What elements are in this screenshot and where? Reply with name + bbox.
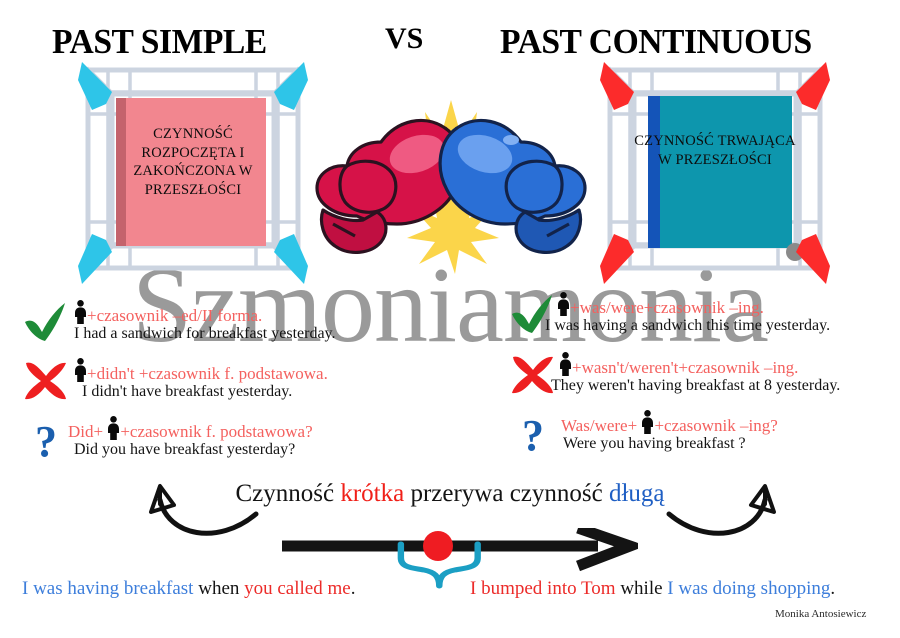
formula-pattern-text: +didn't +czasownik f. podstawowa. [87, 364, 328, 383]
person-icon [107, 416, 120, 440]
formula-row: +czasownik –ed/II forma. I had a sandwic… [18, 300, 448, 352]
cross-icon [18, 358, 74, 402]
formula-column-past-continuous: +was/were+czasownik –ing. I was having a… [505, 292, 895, 462]
sentence-right-blue: I was doing shopping [667, 578, 830, 599]
formula-row: ? Did+ +czasownik f. podstawowa? Did you… [18, 416, 448, 468]
page-title-past-continuous: PAST CONTINUOUS [500, 22, 812, 62]
formula-pattern: +was/were+czasownik –ing. [557, 292, 895, 317]
headline-part2: przerywa czynność [404, 480, 609, 507]
check-icon [505, 292, 561, 336]
formula-pattern-text: +wasn't/weren't+czasownik –ing. [572, 358, 798, 377]
timeline-point [423, 531, 453, 561]
example-sentence-left: I was having breakfast when you called m… [22, 578, 355, 600]
boxing-ring-right: CZYNNOŚĆ TRWAJĄCA W PRZESZŁOŚCI [600, 62, 830, 284]
formula-pattern: Was/were+ +czasownik –ing? [561, 410, 895, 435]
bottom-headline: Czynność krótka przerywa czynność długą [0, 480, 900, 508]
person-icon [641, 410, 654, 434]
formula-example: Were you having breakfast ? [563, 435, 895, 454]
person-icon [74, 358, 87, 382]
formula-row: +wasn't/weren't+czasownik –ing. They wer… [505, 352, 895, 404]
formula-row: ? Was/were+ +czasownik –ing? Were you ha… [505, 410, 895, 462]
formula-pattern: +czasownik –ed/II forma. [74, 300, 448, 325]
sentence-right-red: I bumped into Tom [470, 578, 616, 599]
boxing-ring-left: CZYNNOŚĆ ROZPOCZĘTA I ZAKOŃCZONA W PRZES… [78, 62, 308, 284]
formula-example: They weren't having breakfast at 8 yeste… [551, 377, 895, 396]
formula-pattern: Did+ +czasownik f. podstawowa? [68, 416, 448, 441]
formula-pattern-prefix: Was/were+ [561, 416, 641, 435]
boxing-ring-right-icon [600, 62, 830, 284]
timeline-diagram [278, 528, 638, 618]
sentence-right-black1: while [616, 578, 668, 599]
page-title-past-simple: PAST SIMPLE [52, 22, 267, 62]
check-icon [18, 300, 74, 344]
headline-long: długą [609, 480, 665, 507]
author-credit: Monika Antosiewicz [775, 608, 866, 620]
boxing-ring-left-icon [78, 62, 308, 284]
formula-example: I had a sandwich for breakfast yesterday… [74, 325, 448, 344]
question-mark-icon: ? [505, 410, 561, 458]
headline-short: krótka [340, 480, 404, 507]
cross-icon [505, 352, 561, 396]
formula-pattern: +wasn't/weren't+czasownik –ing. [559, 352, 895, 377]
sentence-left-black1: when [193, 578, 244, 599]
page-title-vs: VS [385, 22, 423, 56]
sentence-left-red: you called me [244, 578, 351, 599]
formula-pattern: +didn't +czasownik f. podstawowa. [74, 358, 448, 383]
formula-pattern-text: +czasownik –ing? [654, 416, 777, 435]
formula-example: I was having a sandwich this time yester… [545, 317, 895, 336]
formula-example: I didn't have breakfast yesterday. [82, 383, 448, 402]
headline-part1: Czynność [235, 480, 340, 507]
question-mark-icon: ? [18, 416, 74, 464]
sentence-left-blue: I was having breakfast [22, 578, 193, 599]
boxing-gloves-icon [305, 92, 597, 277]
formula-pattern-text: +was/were+czasownik –ing. [570, 298, 764, 317]
example-sentence-right: I bumped into Tom while I was doing shop… [470, 578, 835, 600]
formula-example: Did you have breakfast yesterday? [74, 441, 448, 460]
person-icon [74, 300, 87, 324]
formula-pattern-text: +czasownik –ed/II forma. [87, 306, 262, 325]
formula-row: +didn't +czasownik f. podstawowa. I didn… [18, 358, 448, 410]
sentence-left-black2: . [351, 578, 356, 599]
infographic-page: Szmoniamonia PAST SIMPLE VS PAST CONTINU… [0, 0, 900, 638]
sentence-right-black2: . [830, 578, 835, 599]
formula-row: +was/were+czasownik –ing. I was having a… [505, 292, 895, 344]
formula-column-past-simple: +czasownik –ed/II forma. I had a sandwic… [18, 300, 448, 468]
formula-pattern-text: +czasownik f. podstawowa? [120, 422, 312, 441]
